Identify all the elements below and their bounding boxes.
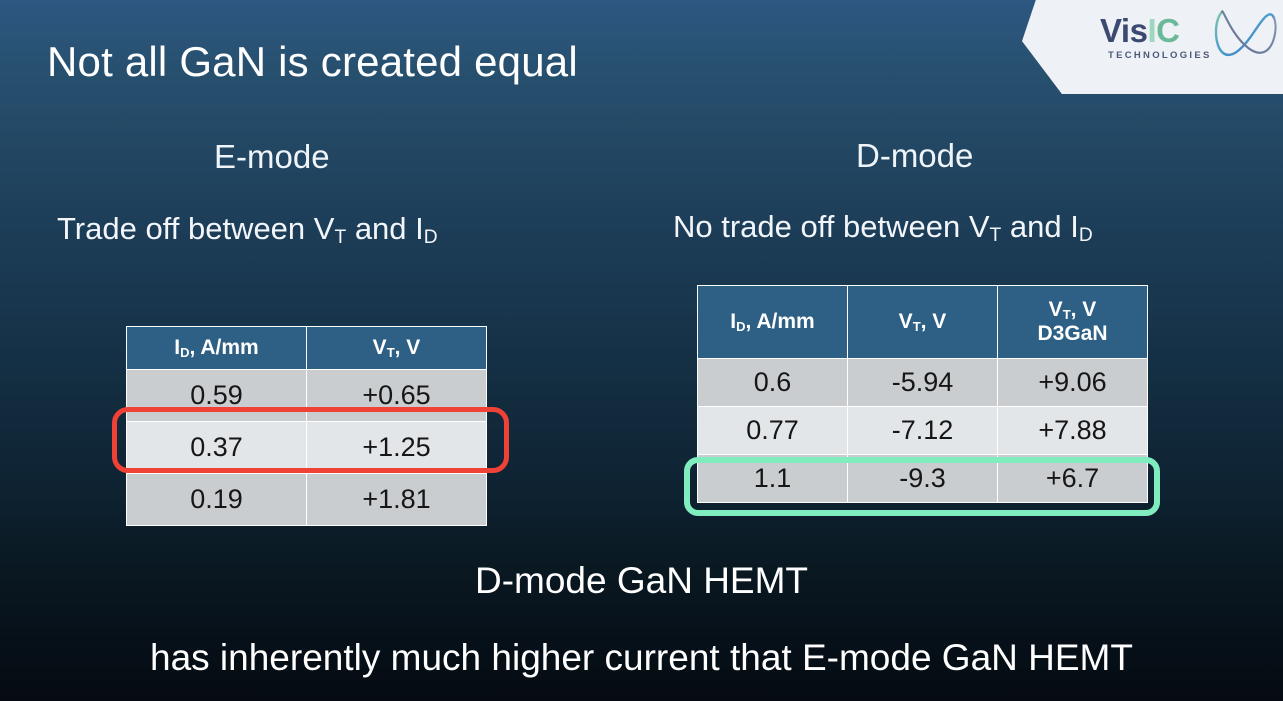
table-header-row: ID, A/mm VT, V [127,327,487,370]
conclusion-line-2: has inherently much higher current that … [0,637,1283,679]
right-sub-d: D [1079,225,1093,246]
cell-id: 0.59 [127,370,307,422]
hdr-sub: T [387,345,395,360]
right-sub-t: T [990,225,1002,246]
cell-id: 0.6 [698,359,848,407]
hdr-rest: , V [1071,298,1097,321]
logo-wordmark: Vis I C [1100,14,1179,47]
emode-table: ID, A/mm VT, V 0.59 +0.65 0.37 +1.25 0.1… [126,326,487,526]
table-row: 0.59 +0.65 [127,370,487,422]
table-row: 0.37 +1.25 [127,422,487,474]
cell-vt-d3gan: +9.06 [998,359,1148,407]
dmode-table: ID, A/mm VT, V VT, VD3GaN 0.6 -5.94 +9.0… [697,285,1148,503]
hdr-rest: , A/mm [746,310,815,333]
dmode-header-vt: VT, V [848,286,998,359]
logo-text-vis: Vis [1100,14,1147,47]
left-sub-text-b: and I [346,211,424,246]
left-column-heading: E-mode [214,138,330,176]
table-header-row: ID, A/mm VT, V VT, VD3GaN [698,286,1148,359]
left-sub-text-a: Trade off between V [57,211,334,246]
hdr-rest: , A/mm [190,336,259,359]
hdr-sub: D [736,319,745,334]
slide-canvas: Vis I C TECHNOLOGIES Not all GaN is crea… [0,0,1283,701]
cell-id: 0.19 [127,474,307,526]
hdr-sub: T [1063,307,1071,322]
infinity-icon [1212,4,1278,60]
left-column-subheading: Trade off between VT and ID [57,211,438,249]
right-sub-text-b: and I [1001,209,1079,244]
dmode-header-vt-d3gan: VT, VD3GaN [998,286,1148,359]
cell-vt: -5.94 [848,359,998,407]
cell-id: 0.37 [127,422,307,474]
logo-text-c: C [1156,14,1179,47]
cell-vt: +1.81 [307,474,487,526]
hdr-rest: , V [921,310,947,333]
cell-vt: +0.65 [307,370,487,422]
table-row: 0.19 +1.81 [127,474,487,526]
dmode-header-id: ID, A/mm [698,286,848,359]
page-title: Not all GaN is created equal [47,38,578,86]
right-sub-text-a: No trade off between V [673,209,990,244]
hdr-sub: T [913,319,921,334]
hdr-main: V [899,310,913,333]
hdr-sub: D [180,345,189,360]
table-row: 0.6 -5.94 +9.06 [698,359,1148,407]
hdr-rest: , V [395,336,421,359]
cell-id: 0.77 [698,407,848,455]
logo-panel: Vis I C TECHNOLOGIES [1022,0,1283,94]
table-row: 0.77 -7.12 +7.88 [698,407,1148,455]
conclusion-line-1: D-mode GaN HEMT [0,560,1283,602]
cell-vt: +1.25 [307,422,487,474]
hdr-main: V [1049,298,1063,321]
left-sub-t: T [334,227,346,248]
hdr-line2: D3GaN [1037,322,1107,345]
cell-vt: -7.12 [848,407,998,455]
right-column-subheading: No trade off between VT and ID [673,209,1093,247]
left-sub-d: D [424,227,438,248]
table-row: 1.1 -9.3 +6.7 [698,455,1148,503]
emode-header-vt: VT, V [307,327,487,370]
cell-vt-d3gan: +6.7 [998,455,1148,503]
cell-vt-d3gan: +7.88 [998,407,1148,455]
emode-header-id: ID, A/mm [127,327,307,370]
logo-text-i: I [1147,14,1156,47]
right-column-heading: D-mode [856,137,973,175]
logo-tagline: TECHNOLOGIES [1108,50,1212,61]
cell-id: 1.1 [698,455,848,503]
hdr-main: V [373,336,387,359]
cell-vt: -9.3 [848,455,998,503]
